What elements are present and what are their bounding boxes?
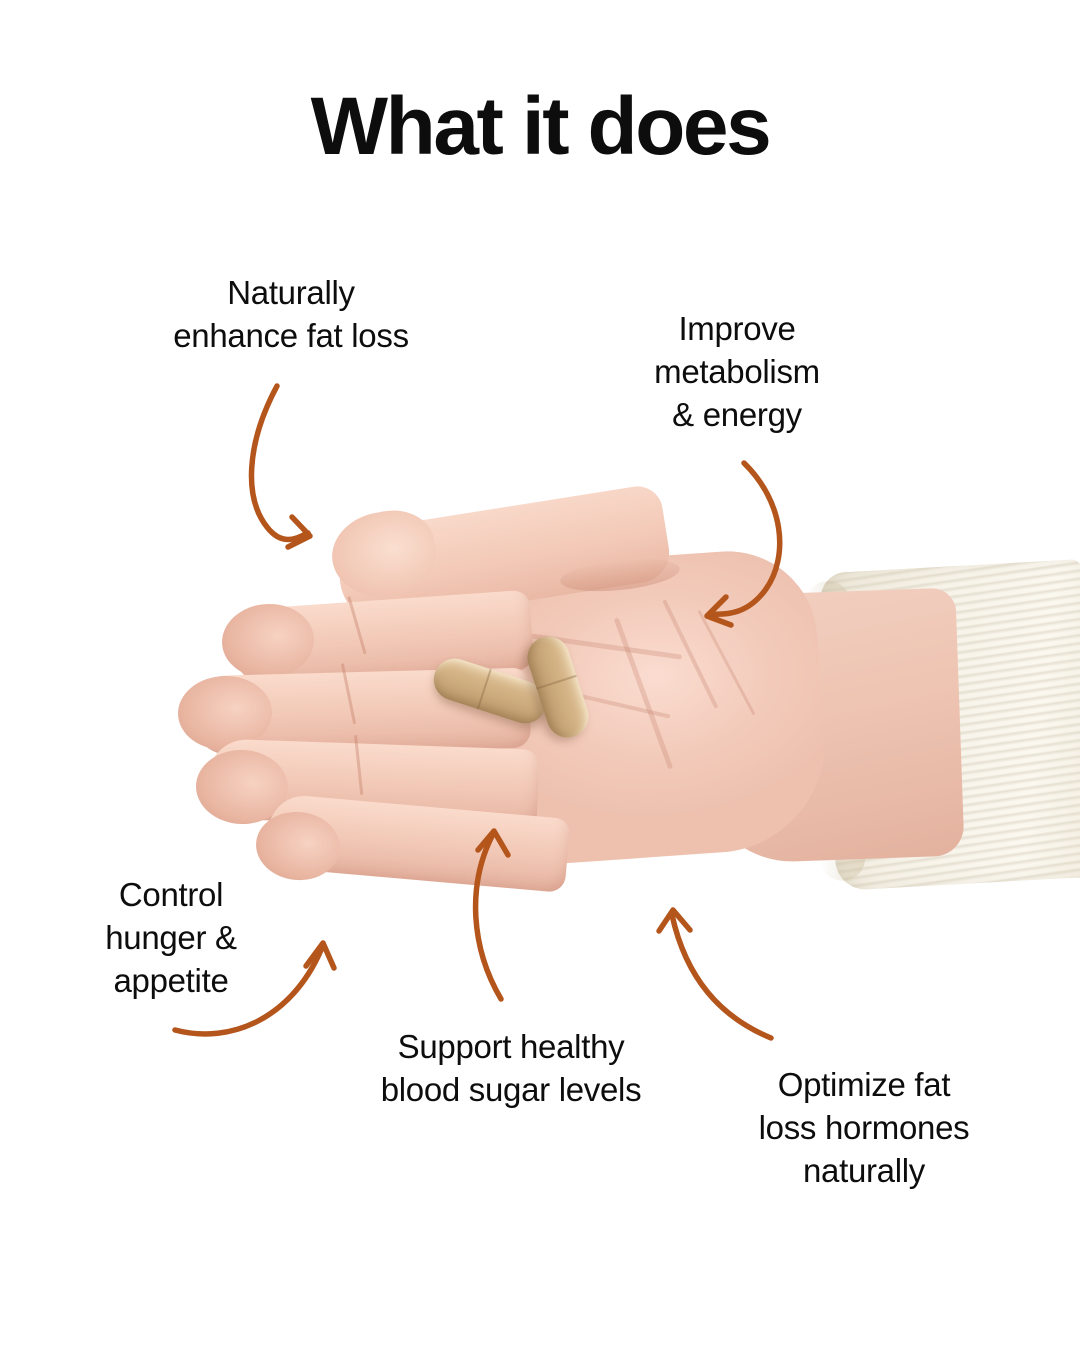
palm-crease-line bbox=[697, 610, 755, 716]
palm-crease-line bbox=[614, 617, 673, 769]
finger-crease bbox=[354, 735, 363, 795]
finger-crease bbox=[347, 596, 366, 655]
infographic-canvas: What it does Naturally enhance fat loss … bbox=[0, 0, 1080, 1350]
finger-crease bbox=[341, 663, 356, 724]
hand-photo bbox=[0, 0, 1080, 1350]
